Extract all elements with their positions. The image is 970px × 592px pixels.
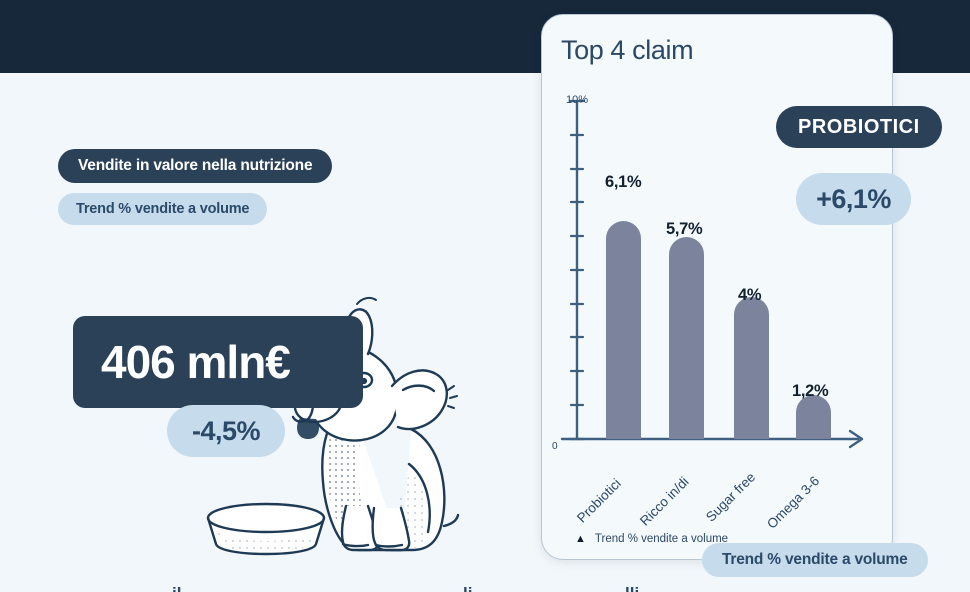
value-delta-text: -4,5% bbox=[192, 416, 260, 447]
infographic-canvas: il li lli Vendite in valore nella nutriz… bbox=[0, 0, 970, 592]
bottom-fragment-1: il bbox=[172, 584, 181, 592]
y-axis-max-label: 10% bbox=[566, 94, 588, 106]
bar-value-label-sugar-free: 4% bbox=[738, 286, 761, 305]
bar-ricco-in-di bbox=[669, 237, 704, 439]
callout-probiotici-label: PROBIOTICI bbox=[798, 116, 920, 139]
bar-value-label-ricco-in-di: 5,7% bbox=[666, 220, 702, 239]
callout-probiotici: PROBIOTICI bbox=[776, 106, 942, 148]
triangle-marker-icon: ▲ bbox=[575, 534, 586, 545]
bottom-fragment-3: lli bbox=[625, 584, 639, 592]
bar-sugar-free bbox=[734, 297, 769, 439]
value-delta-badge: -4,5% bbox=[167, 405, 285, 457]
bar-omega-3-6 bbox=[796, 395, 831, 439]
bottom-fragment-2: li bbox=[463, 584, 472, 592]
bar-group bbox=[542, 15, 892, 559]
chart-legend-label: Trend % vendite a volume bbox=[595, 533, 728, 545]
badge-trend-vendite-volume-bottom: Trend % vendite a volume bbox=[702, 543, 928, 577]
badge-vendite-in-valore: Vendite in valore nella nutrizione bbox=[58, 149, 332, 183]
callout-probiotici-delta: +6,1% bbox=[796, 173, 911, 225]
badge-trend-vendite-volume-bottom-label: Trend % vendite a volume bbox=[722, 551, 908, 569]
bar-value-label-probiotici: 6,1% bbox=[605, 173, 641, 192]
bar-probiotici bbox=[606, 221, 641, 439]
bar-value-label-omega-3-6: 1,2% bbox=[792, 382, 828, 401]
value-badge-406-mln-euro: 406 mln€ bbox=[73, 316, 363, 408]
badge-vendite-in-valore-label: Vendite in valore nella nutrizione bbox=[78, 157, 312, 175]
chart-legend: ▲ Trend % vendite a volume bbox=[575, 533, 728, 545]
badge-trend-vendite-volume-left: Trend % vendite a volume bbox=[58, 193, 267, 225]
chart-card: Top 4 claim bbox=[541, 14, 893, 560]
callout-probiotici-delta-label: +6,1% bbox=[816, 184, 891, 215]
badge-trend-vendite-volume-left-label: Trend % vendite a volume bbox=[76, 201, 249, 217]
value-badge-text: 406 mln€ bbox=[73, 339, 290, 385]
y-axis-zero-label: 0 bbox=[552, 441, 558, 452]
bottom-cut-text-fragments: il li lli bbox=[0, 584, 970, 592]
